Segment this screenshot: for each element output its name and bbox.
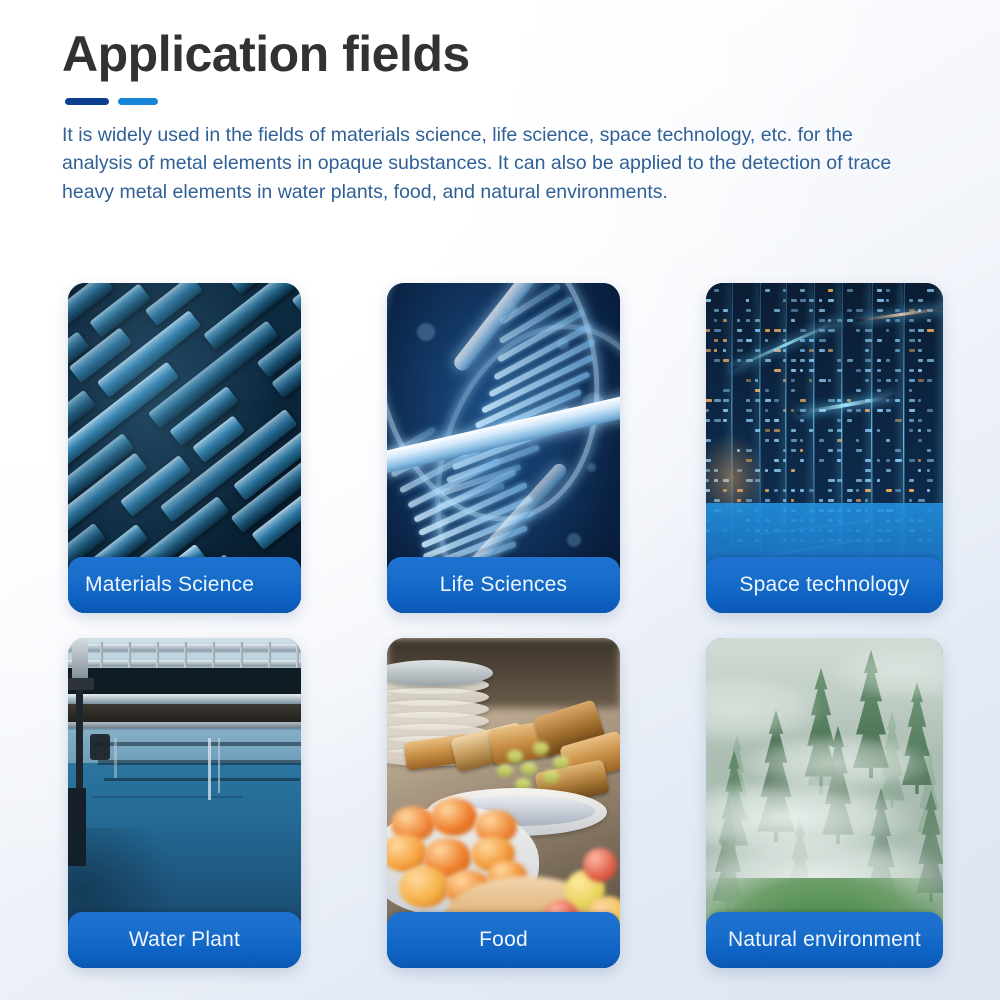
decorative-shape [706,299,711,302]
decorative-shape [828,449,833,452]
decorative-shape [791,369,796,372]
decorative-shape [865,499,868,502]
decorative-shape [737,319,740,322]
decorative-shape [723,309,728,312]
decorative-shape [746,339,752,342]
decorative-shape [828,499,834,502]
decorative-shape [865,409,870,412]
decorative-shape [886,329,889,332]
decorative-shape [886,379,891,382]
decorative-shape [918,329,924,332]
page-title: Application fields [62,28,942,81]
decorative-shape [877,359,881,362]
decorative-shape [268,642,271,668]
decorative-shape [918,469,921,472]
decorative-shape [918,429,921,432]
decorative-shape [714,419,721,422]
decorative-shape [828,429,833,432]
card-life-sciences[interactable]: Life Sciences [387,283,620,613]
decorative-shape [819,299,822,302]
decorative-shape [800,329,806,332]
decorative-shape [927,449,931,452]
decorative-shape [706,329,710,332]
decorative-shape [714,339,718,342]
decorative-shape [723,399,729,402]
decorative-shape [856,449,862,452]
decorative-shape [791,439,797,442]
decorative-shape [399,866,449,908]
decorative-shape [856,309,863,312]
decorative-shape [927,319,931,322]
card-food[interactable]: Food [387,638,620,968]
decorative-shape [533,742,549,755]
decorative-shape [765,409,768,412]
decorative-shape [819,459,824,462]
decorative-shape [819,439,824,442]
decorative-shape [800,349,805,352]
decorative-shape [714,329,721,332]
decorative-shape [723,419,727,422]
decorative-shape [856,489,859,492]
decorative-shape [800,359,805,362]
decorative-shape [746,379,751,382]
decorative-shape [774,439,779,442]
decorative-shape [765,289,770,292]
decorative-shape [927,379,932,382]
decorative-shape [706,409,709,412]
decorative-shape [909,409,915,412]
decorative-shape [927,459,934,462]
decorative-shape [774,399,779,402]
decorative-shape [927,409,933,412]
decorative-shape [909,429,913,432]
decorative-shape [828,329,835,332]
decorative-shape [68,668,301,694]
decorative-shape [847,289,853,292]
decorative-shape [927,359,934,362]
decorative-shape [877,389,881,392]
decorative-shape [909,319,914,322]
decorative-shape [886,409,891,412]
decorative-shape [909,459,915,462]
title-accent-dashes [65,98,942,105]
decorative-shape [918,399,921,402]
decorative-shape [909,339,915,342]
decorative-shape [774,469,781,472]
decorative-shape [909,499,912,502]
decorative-shape [856,369,861,372]
decorative-shape [886,319,890,322]
decorative-shape [895,399,900,402]
decorative-shape [521,762,537,775]
decorative-shape [909,369,914,372]
decorative-shape [765,339,768,342]
decorative-shape [918,419,922,422]
decorative-shape [886,299,889,302]
decorative-shape [856,499,861,502]
decorative-shape [156,642,159,668]
decorative-shape [828,479,835,482]
decorative-shape [927,289,934,292]
decorative-shape [765,429,770,432]
card-label-food: Food [387,912,620,968]
decorative-shape [819,499,823,502]
decorative-shape [774,309,780,312]
decorative-shape [746,409,752,412]
decorative-shape [800,399,806,402]
decorative-shape [68,678,94,690]
decorative-shape [723,359,729,362]
decorative-shape [909,349,915,352]
accent-dash-light [118,98,158,105]
decorative-shape [765,389,769,392]
decorative-shape [68,722,301,728]
decorative-shape [856,329,860,332]
decorative-shape [819,379,826,382]
decorative-shape [847,409,852,412]
application-cards-grid: Materials Science Life Sciences Space te… [68,283,934,968]
decorative-shape [746,319,750,322]
decorative-shape [886,489,892,492]
decorative-shape [791,489,795,492]
decorative-shape [877,459,880,462]
decorative-shape [865,349,869,352]
decorative-shape [865,379,869,382]
decorative-shape [918,299,923,302]
decorative-shape [856,479,862,482]
card-water-plant[interactable]: Water Plant [68,638,301,968]
decorative-shape [723,409,728,412]
decorative-shape [895,349,900,352]
decorative-shape [847,359,853,362]
decorative-shape [723,319,727,322]
decorative-shape [791,379,795,382]
decorative-shape [819,319,825,322]
decorative-shape [765,419,770,422]
decorative-shape [791,449,796,452]
decorative-shape [765,359,771,362]
decorative-shape [828,299,834,302]
card-label-life-sciences: Life Sciences [387,557,620,613]
decorative-shape [847,499,852,502]
decorative-shape [714,319,717,322]
decorative-shape [927,479,933,482]
decorative-shape [909,399,915,402]
card-label-materials-science: Materials Science [68,557,301,613]
decorative-shape [828,379,831,382]
page-header: Application fields It is widely used in … [62,28,942,206]
decorative-shape [877,479,880,482]
decorative-shape [714,399,721,402]
decorative-shape [723,339,727,342]
decorative-shape [774,419,779,422]
card-label-natural-environment: Natural environment [706,912,943,968]
decorative-shape [800,459,804,462]
decorative-shape [877,429,880,432]
decorative-shape [737,359,741,362]
decorative-shape [714,289,719,292]
decorative-shape [819,339,826,342]
decorative-shape [877,409,883,412]
card-label-space-technology: Space technology [706,557,943,613]
decorative-shape [927,489,930,492]
decorative-shape [828,289,833,292]
decorative-shape [774,489,778,492]
decorative-shape [856,409,861,412]
decorative-shape [746,299,749,302]
decorative-shape [791,389,795,392]
decorative-shape [909,479,914,482]
decorative-shape [98,760,301,765]
decorative-shape [128,642,131,668]
decorative-shape [847,489,853,492]
decorative-shape [877,379,881,382]
decorative-shape [847,309,852,312]
decorative-shape [240,642,243,668]
decorative-shape [927,329,934,332]
decorative-shape [877,369,881,372]
decorative-shape [895,379,898,382]
decorative-shape [800,419,804,422]
decorative-shape [208,738,211,800]
decorative-shape [791,309,798,312]
decorative-shape [92,742,301,746]
decorative-shape [909,329,915,332]
decorative-shape [918,459,921,462]
decorative-shape [706,399,712,402]
accent-dash-dark [65,98,109,105]
decorative-shape [895,449,901,452]
decorative-shape [828,489,832,492]
decorative-shape [828,399,835,402]
decorative-shape [895,459,902,462]
decorative-shape [583,848,617,882]
decorative-shape [927,429,931,432]
decorative-shape [791,359,796,362]
decorative-shape [800,289,805,292]
decorative-shape [886,439,890,442]
card-materials-science[interactable]: Materials Science [68,283,301,613]
card-natural-environment[interactable]: Natural environment [706,638,943,968]
decorative-shape [847,319,853,322]
decorative-shape [918,379,924,382]
decorative-shape [706,349,711,352]
decorative-shape [765,399,771,402]
decorative-shape [791,429,796,432]
decorative-shape [746,309,751,312]
decorative-shape [791,499,794,502]
decorative-shape [800,489,804,492]
decorative-shape [791,319,795,322]
decorative-shape [909,379,915,382]
decorative-shape [877,339,882,342]
decorative-shape [800,299,806,302]
decorative-shape [895,319,900,322]
decorative-shape [909,419,914,422]
decorative-shape [218,738,220,793]
decorative-shape [497,764,513,777]
card-label-water-plant: Water Plant [68,912,301,968]
decorative-shape [431,798,477,836]
decorative-shape [886,469,891,472]
decorative-shape [737,349,743,352]
decorative-shape [809,379,812,382]
decorative-shape [543,770,559,783]
decorative-shape [886,289,890,292]
decorative-shape [847,419,852,422]
decorative-shape [856,389,861,392]
decorative-shape [918,369,922,372]
decorative-shape [765,329,770,332]
decorative-shape [886,359,890,362]
intro-paragraph: It is widely used in the fields of mater… [62,121,922,207]
decorative-shape [774,429,780,432]
decorative-shape [909,389,912,392]
decorative-shape [895,489,901,492]
decorative-shape [507,750,523,763]
decorative-shape [791,469,795,472]
decorative-shape [918,499,925,502]
decorative-shape [828,349,833,352]
decorative-shape [819,309,825,312]
decorative-shape [737,329,742,332]
application-fields-page: Application fields It is widely used in … [0,0,1000,1000]
decorative-shape [714,309,719,312]
decorative-shape [918,439,922,442]
decorative-shape [184,642,187,668]
decorative-shape [800,449,803,452]
decorative-shape [68,694,301,703]
decorative-shape [927,469,930,472]
decorative-shape [877,289,882,292]
decorative-shape [774,459,779,462]
decorative-shape [114,738,117,778]
decorative-shape [774,369,781,372]
card-space-technology[interactable]: Space technology [706,283,943,613]
decorative-shape [886,459,890,462]
decorative-shape [737,339,743,342]
decorative-shape [865,359,871,362]
decorative-shape [819,349,825,352]
decorative-shape [791,409,794,412]
decorative-shape [909,299,913,302]
decorative-shape [918,339,921,342]
decorative-shape [877,309,883,312]
decorative-shape [68,704,301,722]
decorative-shape [774,329,781,332]
decorative-shape [714,349,717,352]
decorative-shape [723,349,726,352]
decorative-shape [755,379,758,382]
decorative-shape [895,419,902,422]
decorative-shape [909,489,914,492]
decorative-shape [296,642,299,668]
decorative-shape [895,369,901,372]
decorative-shape [746,399,750,402]
decorative-shape [553,756,569,769]
decorative-shape [800,439,803,442]
decorative-shape [723,389,730,392]
decorative-shape [104,778,300,781]
decorative-shape [918,349,922,352]
decorative-shape [856,439,859,442]
decorative-shape [895,309,900,312]
decorative-shape [706,419,710,422]
decorative-shape [918,359,923,362]
decorative-shape [100,642,103,668]
decorative-shape [800,369,803,372]
decorative-shape [791,299,797,302]
decorative-shape [895,339,900,342]
decorative-shape [746,419,753,422]
decorative-shape [877,299,884,302]
decorative-shape [90,734,110,760]
decorative-shape [714,359,720,362]
decorative-shape [212,642,215,668]
decorative-shape [92,796,242,798]
